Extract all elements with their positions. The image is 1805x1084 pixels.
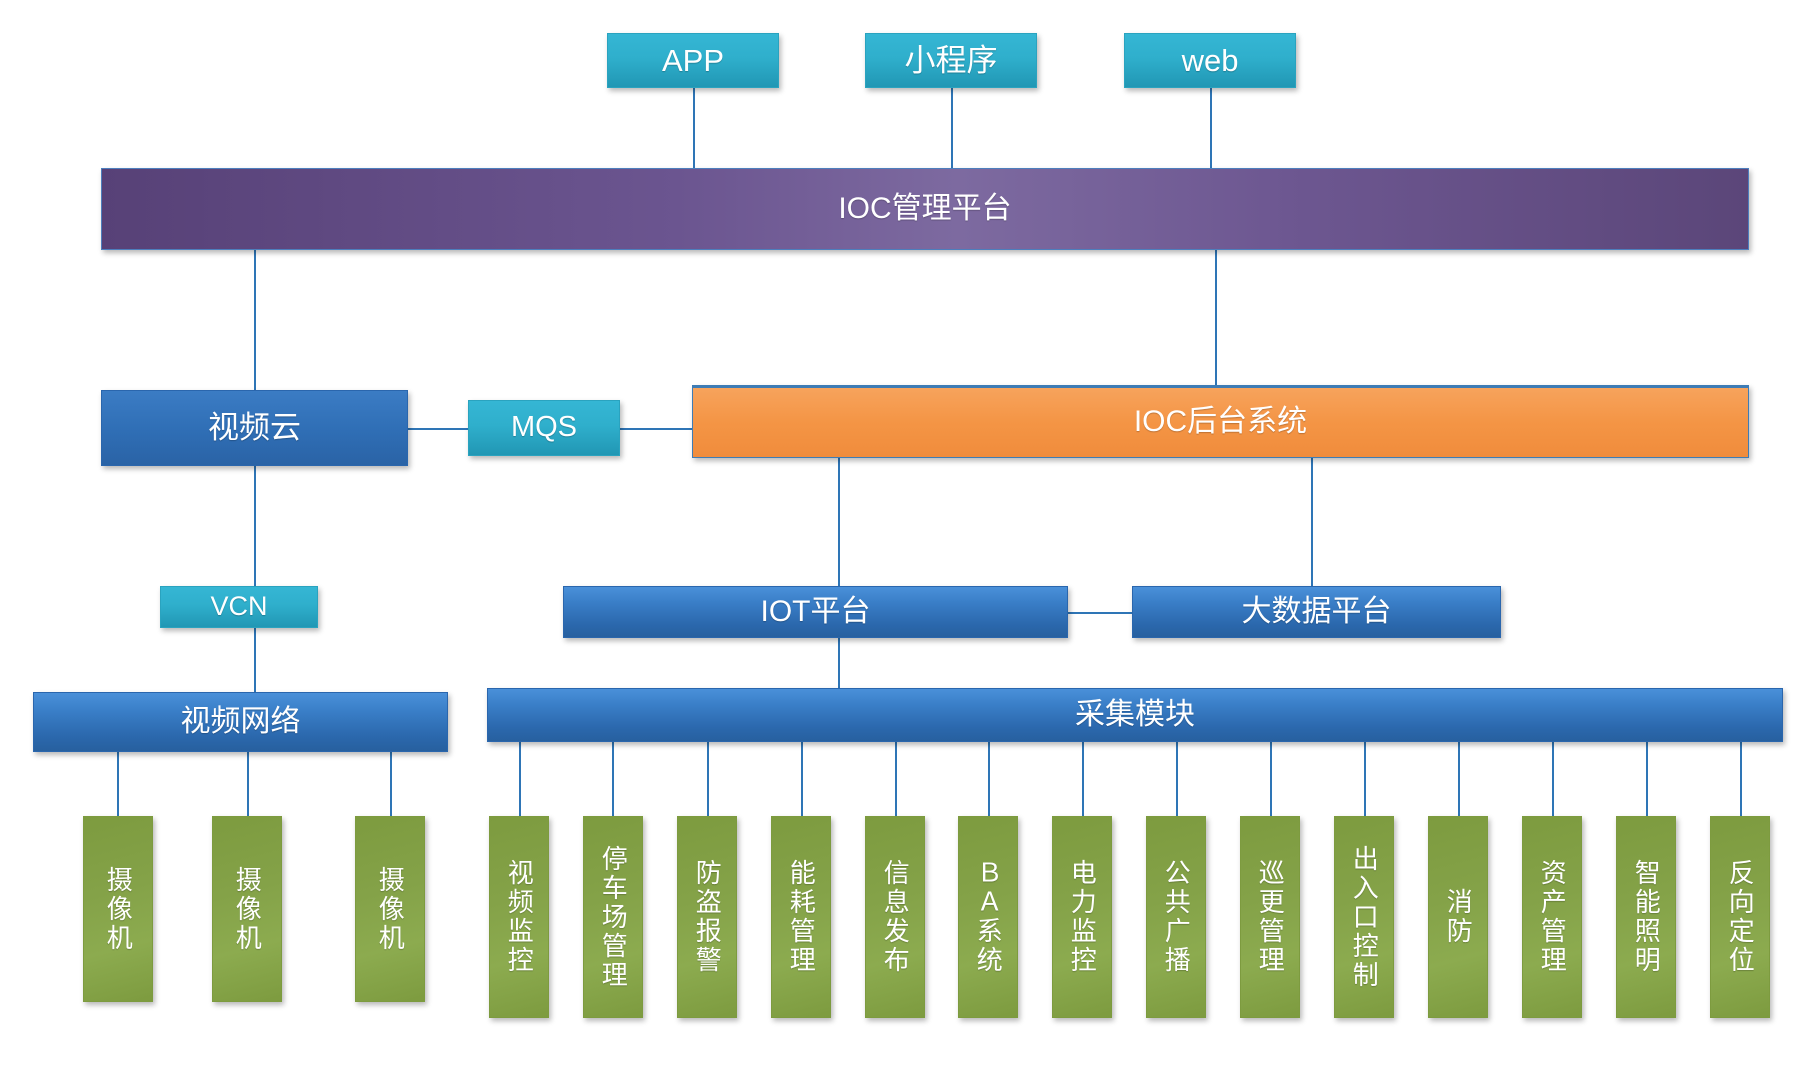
collect-item-label-3: 防盗报警 [691,857,724,977]
connector-collect-to-item-5 [895,742,897,816]
client-box-miniapp[interactable]: 小程序 [865,33,1037,88]
connector-mqs-to-backend [620,428,692,430]
client-label-web: web [1182,44,1239,77]
collect-item-box-14[interactable]: 反向定位 [1710,816,1770,1018]
mqs-label: MQS [511,412,577,443]
iot-platform-box[interactable]: IOT平台 [563,586,1068,638]
connector-collect-to-item-9 [1270,742,1272,816]
client-label-app: APP [662,44,724,77]
bigdata-platform-box[interactable]: 大数据平台 [1132,586,1501,638]
connector-backend-to-bigdata [1311,458,1313,586]
collect-item-box-11[interactable]: 消防 [1428,816,1488,1018]
video-network-label: 视频网络 [181,706,301,738]
collect-item-box-12[interactable]: 资产管理 [1522,816,1582,1018]
collect-item-label-12: 资产管理 [1536,857,1569,977]
collect-module-bar[interactable]: 采集模块 [487,688,1783,742]
architecture-diagram: APP 小程序 web IOC管理平台 视频云 MQS IOC后台系统 VCN … [0,0,1805,1084]
video-cloud-box[interactable]: 视频云 [101,390,408,466]
connector-platform-to-videocloud [254,250,256,390]
connector-collect-to-item-6 [988,742,990,816]
connector-app-to-platform [693,87,695,169]
collect-item-label-5: 信息发布 [879,857,912,977]
connector-miniapp-to-platform [951,87,953,169]
collect-item-label-11: 消防 [1442,886,1475,948]
ioc-backend-box[interactable]: IOC后台系统 [692,385,1749,458]
camera-box-2[interactable]: 摄像机 [212,816,282,1002]
connector-backend-to-iot [838,458,840,586]
collect-module-label: 采集模块 [1075,699,1195,731]
camera-box-1[interactable]: 摄像机 [83,816,153,1002]
connector-collect-to-item-10 [1364,742,1366,816]
connector-iot-to-collect [838,638,840,688]
collect-item-label-6: ＢＡ系统 [972,857,1005,977]
collect-item-label-4: 能耗管理 [785,857,818,977]
collect-item-label-1: 视频监控 [503,857,536,977]
connector-videonetwork-to-camera-1 [117,752,119,816]
collect-item-label-2: 停车场管理 [597,843,630,992]
collect-item-box-7[interactable]: 电力监控 [1052,816,1112,1018]
mqs-box[interactable]: MQS [468,400,620,456]
ioc-backend-label: IOC后台系统 [1134,406,1307,438]
collect-item-box-5[interactable]: 信息发布 [865,816,925,1018]
bigdata-platform-label: 大数据平台 [1242,596,1392,628]
connector-collect-to-item-13 [1646,742,1648,816]
connector-videocloud-to-vcn [254,466,256,586]
vcn-label: VCN [210,592,267,621]
client-box-web[interactable]: web [1124,33,1296,88]
connector-collect-to-item-11 [1458,742,1460,816]
connector-collect-to-item-14 [1740,742,1742,816]
connector-collect-to-item-8 [1176,742,1178,816]
camera-label-2: 摄像机 [231,864,264,955]
collect-item-box-9[interactable]: 巡更管理 [1240,816,1300,1018]
connector-collect-to-item-3 [707,742,709,816]
connector-collect-to-item-2 [612,742,614,816]
camera-label-3: 摄像机 [374,864,407,955]
collect-item-label-8: 公共广播 [1160,857,1193,977]
connector-vcn-to-videonetwork [254,628,256,696]
collect-item-box-4[interactable]: 能耗管理 [771,816,831,1018]
connector-collect-to-item-4 [801,742,803,816]
collect-item-box-2[interactable]: 停车场管理 [583,816,643,1018]
connector-platform-to-backend [1215,250,1217,385]
collect-item-label-13: 智能照明 [1630,857,1663,977]
collect-item-box-1[interactable]: 视频监控 [489,816,549,1018]
video-network-bar[interactable]: 视频网络 [33,692,448,752]
connector-videonetwork-to-camera-2 [247,752,249,816]
collect-item-box-10[interactable]: 出入口控制 [1334,816,1394,1018]
connector-collect-to-item-1 [519,742,521,816]
collect-item-label-14: 反向定位 [1724,857,1757,977]
camera-label-1: 摄像机 [102,864,135,955]
collect-item-label-7: 电力监控 [1066,857,1099,977]
camera-box-3[interactable]: 摄像机 [355,816,425,1002]
connector-collect-to-item-12 [1552,742,1554,816]
collect-item-box-13[interactable]: 智能照明 [1616,816,1676,1018]
connector-web-to-platform [1210,87,1212,169]
collect-item-label-9: 巡更管理 [1254,857,1287,977]
client-label-miniapp: 小程序 [905,44,998,77]
ioc-management-platform-bar[interactable]: IOC管理平台 [101,168,1749,250]
connector-iot-to-bigdata [1068,612,1132,614]
collect-item-box-8[interactable]: 公共广播 [1146,816,1206,1018]
collect-item-label-10: 出入口控制 [1348,843,1381,992]
client-box-app[interactable]: APP [607,33,779,88]
collect-item-box-3[interactable]: 防盗报警 [677,816,737,1018]
vcn-box[interactable]: VCN [160,586,318,628]
video-cloud-label: 视频云 [208,411,301,444]
connector-collect-to-item-7 [1082,742,1084,816]
ioc-management-platform-label: IOC管理平台 [838,193,1011,225]
connector-videonetwork-to-camera-3 [390,752,392,816]
iot-platform-label: IOT平台 [761,596,871,628]
connector-videocloud-to-mqs [408,428,468,430]
collect-item-box-6[interactable]: ＢＡ系统 [958,816,1018,1018]
